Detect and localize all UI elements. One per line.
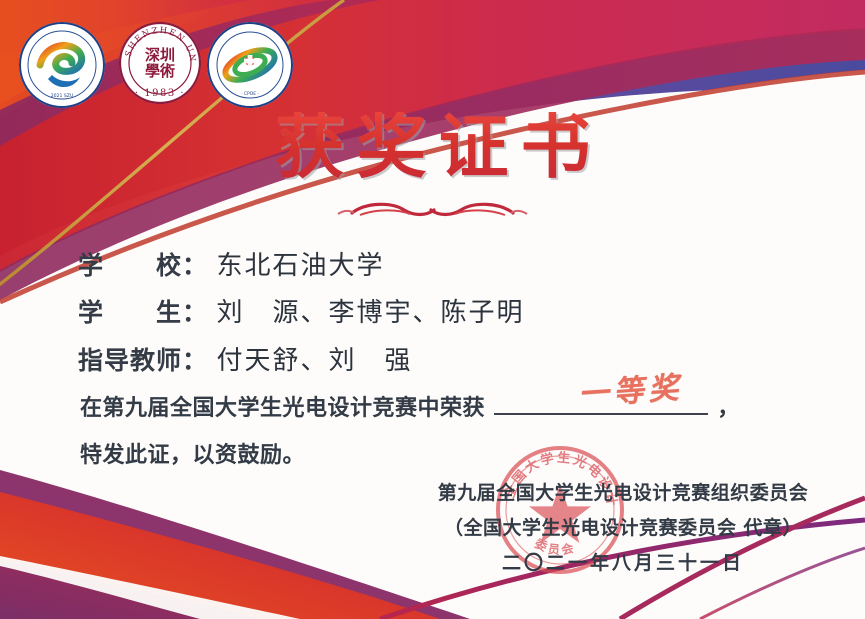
body-prefix: 在第九届全国大学生光电设计竞赛中荣获 bbox=[80, 396, 485, 421]
field-row-students: 学 生： 刘 源、李博宇、陈子明 bbox=[78, 292, 524, 329]
award-value-handwritten: 一等奖 bbox=[577, 362, 685, 413]
students-value: 刘 源、李博宇、陈子明 bbox=[216, 298, 524, 328]
body-suffix: ， bbox=[717, 396, 740, 421]
college-logo: · CPOE · bbox=[206, 21, 294, 109]
award-blank-line bbox=[494, 413, 708, 415]
signature-date: 二〇二一年八月三十一日 bbox=[423, 548, 823, 575]
teachers-label: 指导教师： bbox=[78, 346, 208, 375]
svg-text:學術: 學術 bbox=[145, 62, 175, 80]
logo-row: 2021 SZU SHENZHEN UNIVERSITY 深圳 學術 · 198… bbox=[18, 16, 288, 110]
field-row-school: 学 校： 东北石油大学 bbox=[78, 245, 384, 282]
students-label: 学 生： bbox=[78, 298, 208, 327]
signature-block: 第九届全国大学生光电设计竞赛组织委员会 （全国大学生光电设计竞赛委员会 代章） … bbox=[423, 478, 823, 583]
teachers-value: 付天舒、刘 强 bbox=[216, 346, 412, 376]
competition-logo: 2021 SZU bbox=[18, 21, 106, 109]
svg-text:2021 SZU: 2021 SZU bbox=[51, 93, 74, 99]
svg-text:· 1983 ·: · 1983 · bbox=[135, 88, 185, 99]
field-row-teachers: 指导教师： 付天舒、刘 强 bbox=[78, 340, 412, 377]
page-title: 获奖证书 bbox=[0, 112, 865, 182]
school-label: 学 校： bbox=[78, 251, 208, 280]
title-divider bbox=[0, 196, 865, 224]
signature-organization: 第九届全国大学生光电设计竞赛组织委员会 bbox=[423, 478, 823, 505]
certificate-page: 2021 SZU SHENZHEN UNIVERSITY 深圳 學術 · 198… bbox=[0, 0, 865, 619]
school-value: 东北石油大学 bbox=[216, 251, 384, 281]
signature-agent: （全国大学生光电设计竞赛委员会 代章） bbox=[423, 513, 823, 540]
shenzhen-university-seal: SHENZHEN UNIVERSITY 深圳 學術 · 1983 · bbox=[118, 16, 202, 110]
title-block: 获奖证书 bbox=[0, 112, 865, 182]
body-line-2: 特发此证，以资鼓励。 bbox=[80, 437, 305, 469]
svg-text:· CPOE ·: · CPOE · bbox=[241, 91, 259, 97]
